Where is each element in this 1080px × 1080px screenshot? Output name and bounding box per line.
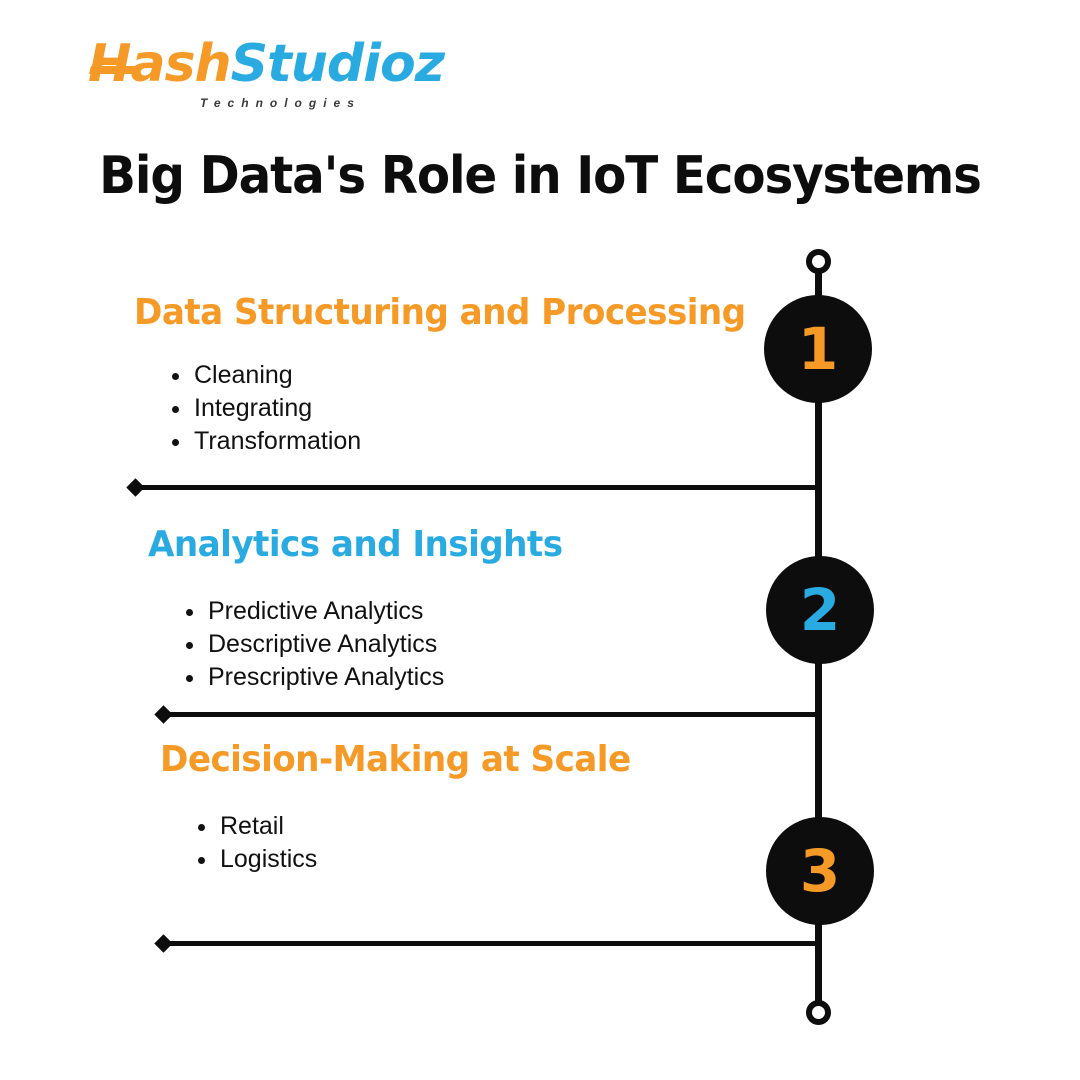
list-item: Descriptive Analytics [172,628,584,661]
section-3-bullet-list: Retail Logistics [184,810,655,876]
timeline-end-ring-icon [806,1000,831,1025]
timeline-node-1-number: 1 [798,315,838,383]
section-3-heading: Decision-Making at Scale [160,739,631,780]
list-item: Integrating [158,392,778,425]
logo-studioz-text: Studioz [231,34,444,94]
list-item: Transformation [158,425,778,458]
list-item: Cleaning [158,359,778,392]
section-separator-3 [164,941,819,946]
logo-tagline: Technologies [200,96,361,110]
list-item: Predictive Analytics [172,595,584,628]
section-2-heading: Analytics and Insights [148,524,562,565]
timeline-section-3: Decision-Making at Scale Retail Logistic… [160,739,655,876]
section-2-bullet-list: Predictive Analytics Descriptive Analyti… [172,595,584,694]
list-item: Retail [184,810,655,843]
timeline-node-1[interactable]: 1 [764,295,872,403]
timeline-start-ring-icon [806,249,831,274]
list-item: Logistics [184,843,655,876]
timeline-node-3[interactable]: 3 [766,817,874,925]
section-1-bullet-list: Cleaning Integrating Transformation [158,359,778,458]
timeline-node-2-number: 2 [800,576,840,644]
logo-hash-text: Hash [88,34,231,94]
timeline-section-2: Analytics and Insights Predictive Analyt… [148,524,584,694]
page-title: Big Data's Role in IoT Ecosystems [38,146,1042,206]
timeline-node-3-number: 3 [800,837,840,905]
timeline-section-1: Data Structuring and Processing Cleaning… [134,292,778,458]
timeline-node-2[interactable]: 2 [766,556,874,664]
section-separator-1 [136,485,819,490]
brand-logo: HashStudioz Technologies [88,36,418,114]
list-item: Prescriptive Analytics [172,661,584,694]
section-1-heading: Data Structuring and Processing [134,292,746,333]
logo-strike-decoration [89,66,137,74]
section-separator-2 [164,712,819,717]
logo-wordmark: HashStudioz [88,36,418,92]
